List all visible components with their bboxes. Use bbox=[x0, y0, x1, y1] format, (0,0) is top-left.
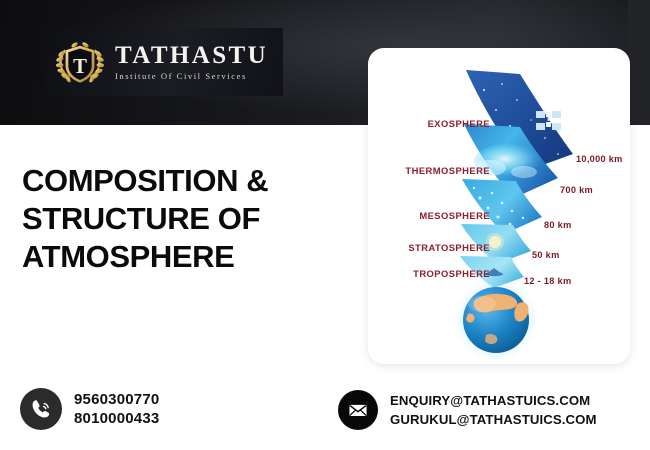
layer-label-troposphere: TROPOSPHERE bbox=[413, 268, 490, 279]
title-line-2: STRUCTURE OF bbox=[22, 200, 352, 238]
layer-label-thermosphere: THERMOSPHERE bbox=[405, 165, 490, 176]
brand-tagline: Institute Of Civil Services bbox=[115, 72, 268, 81]
title-line-1: COMPOSITION & bbox=[22, 162, 352, 200]
svg-text:T: T bbox=[73, 56, 87, 78]
header-right-edge bbox=[628, 0, 650, 125]
layer-label-stratosphere: STRATOSPHERE bbox=[408, 242, 490, 253]
title-line-3: ATMOSPHERE bbox=[22, 238, 352, 276]
atmosphere-diagram-card: EXOSPHERE THERMOSPHERE MESOSPHERE STRATO… bbox=[368, 48, 630, 364]
altitude-label-thermosphere: 700 km bbox=[560, 185, 593, 195]
phone-number-1: 9560300770 bbox=[74, 390, 159, 409]
altitude-label-troposphere: 12 - 18 km bbox=[524, 276, 571, 286]
brand-name: TATHASTU bbox=[115, 43, 268, 68]
poster-canvas: T TATHASTU Institute Of Civil Services bbox=[0, 0, 650, 450]
brand-logo: T TATHASTU Institute Of Civil Services bbox=[43, 28, 283, 96]
contact-phone[interactable]: 9560300770 8010000433 bbox=[20, 388, 159, 430]
altitude-label-mesosphere: 80 km bbox=[544, 220, 572, 230]
email-address-2: GURUKUL@TATHASTUICS.COM bbox=[390, 410, 597, 429]
phone-number-2: 8010000433 bbox=[74, 409, 159, 428]
shield-laurel-crest-icon: T bbox=[53, 35, 107, 89]
page-title: COMPOSITION & STRUCTURE OF ATMOSPHERE bbox=[22, 162, 352, 276]
altitude-label-stratosphere: 50 km bbox=[532, 250, 560, 260]
contact-email[interactable]: ENQUIRY@TATHASTUICS.COM GURUKUL@TATHASTU… bbox=[338, 390, 597, 430]
envelope-icon bbox=[338, 390, 378, 430]
atmosphere-layers-diagram: EXOSPHERE THERMOSPHERE MESOSPHERE STRATO… bbox=[368, 48, 630, 364]
layer-label-exosphere: EXOSPHERE bbox=[428, 118, 490, 129]
phone-icon bbox=[20, 388, 62, 430]
email-address-1: ENQUIRY@TATHASTUICS.COM bbox=[390, 391, 597, 410]
layer-label-mesosphere: MESOSPHERE bbox=[419, 210, 490, 221]
altitude-label-exosphere: 10,000 km bbox=[576, 154, 623, 164]
